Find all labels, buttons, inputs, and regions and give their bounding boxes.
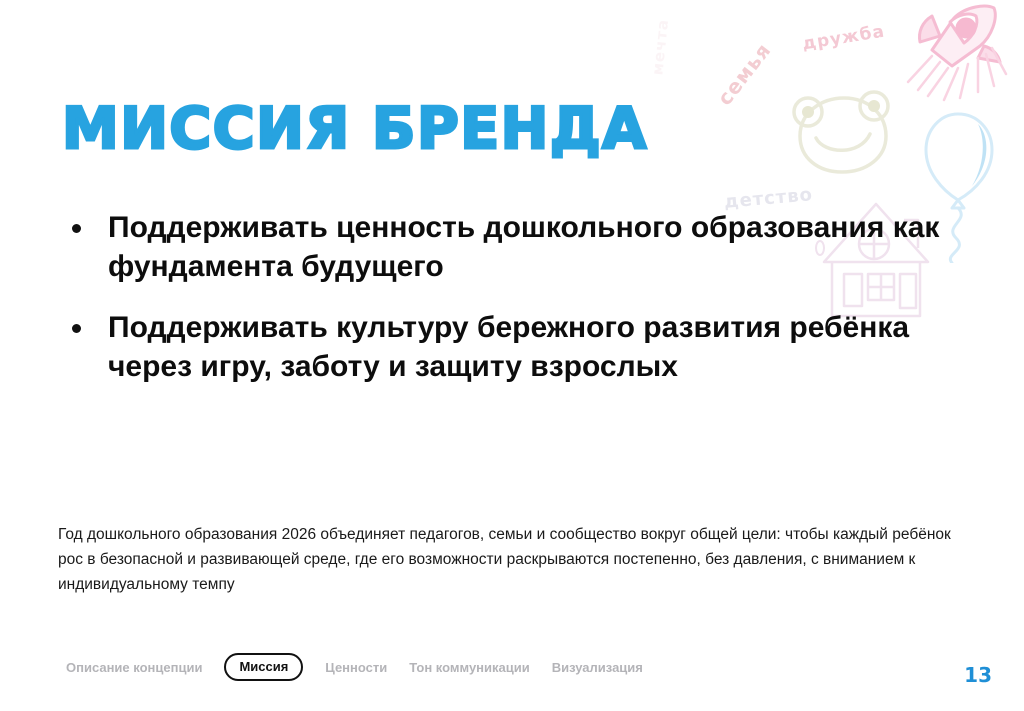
bullet-list: Поддерживать ценность дошкольного образо… xyxy=(72,208,972,408)
bullet-text: Поддерживать культуру бережного развития… xyxy=(108,308,968,386)
bear-face-doodle-icon xyxy=(786,84,898,184)
list-item: Поддерживать ценность дошкольного образо… xyxy=(72,208,972,286)
nav-item-missiya[interactable]: Миссия xyxy=(224,653,303,681)
nav-item-ton-kommunikacii[interactable]: Тон коммуникации xyxy=(409,660,529,675)
doodle-word-druzhba: дружба xyxy=(801,22,886,55)
page-number: 13 xyxy=(964,663,992,687)
slide-canvas: дружба семья детство мечта МИССИЯ БРЕНДА… xyxy=(0,0,1024,711)
body-paragraph: Год дошкольного образования 2026 объедин… xyxy=(58,522,958,597)
bullet-dot-icon xyxy=(72,324,81,333)
slide-title: МИССИЯ БРЕНДА xyxy=(62,96,648,162)
bullet-dot-icon xyxy=(72,224,81,233)
nav-item-vizualizaciya[interactable]: Визуализация xyxy=(552,660,643,675)
doodle-word-faint: мечта xyxy=(648,18,672,76)
nav-item-opisanie-koncepcii[interactable]: Описание концепции xyxy=(66,660,202,675)
nav-item-cennosti[interactable]: Ценности xyxy=(325,660,387,675)
doodle-word-semya: семья xyxy=(712,38,775,110)
list-item: Поддерживать культуру бережного развития… xyxy=(72,308,972,386)
footer-navigation: Описание концепции Миссия Ценности Тон к… xyxy=(66,653,643,681)
bullet-text: Поддерживать ценность дошкольного образо… xyxy=(108,208,968,286)
rocket-doodle-icon xyxy=(892,2,1012,112)
